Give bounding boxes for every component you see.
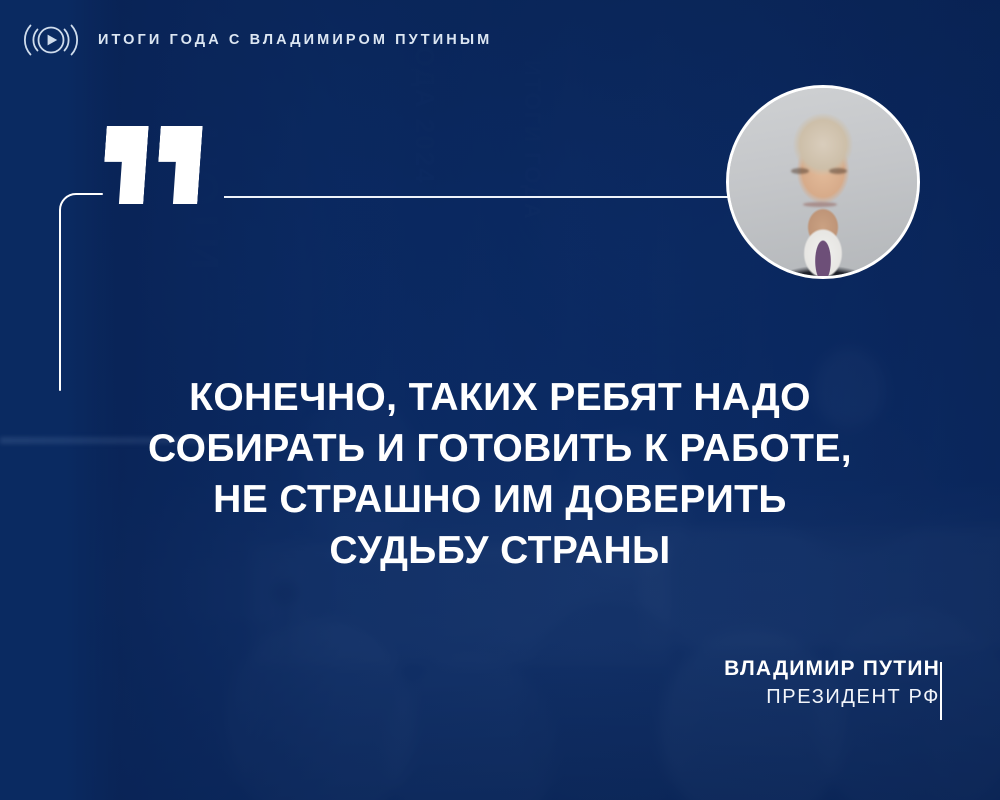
quote-card: ИТОГИ ГОДА 2024 ИТОГИ ГОДА ИТОГИ ГОДА С … [0, 0, 1000, 800]
attribution: ВЛАДИМИР ПУТИН ПРЕЗИДЕНТ РФ [724, 655, 940, 711]
quote-glyph-left [101, 126, 148, 204]
quote-glyph-right [155, 126, 202, 204]
portrait-eye-right [829, 168, 847, 174]
header-title: ИТОГИ ГОДА С ВЛАДИМИРОМ ПУТИНЫМ [98, 32, 492, 48]
portrait-eye-left [791, 168, 809, 174]
quote-line-4: СУДЬБУ СТРАНЫ [0, 525, 1000, 576]
content-layer: ИТОГИ ГОДА С ВЛАДИМИРОМ ПУТИНЫМ КОНЕЧНО, [0, 0, 1000, 800]
portrait-photo [729, 88, 917, 276]
quote-line-1: КОНЕЧНО, ТАКИХ РЕБЯТ НАДО [0, 372, 1000, 423]
portrait-mouth [803, 202, 837, 207]
avatar [726, 85, 920, 279]
attribution-name: ВЛАДИМИР ПУТИН [724, 655, 940, 683]
quote-divider-rule [224, 196, 732, 198]
quote-open-icon [104, 126, 200, 204]
header: ИТОГИ ГОДА С ВЛАДИМИРОМ ПУТИНЫМ [18, 20, 492, 60]
quote-line-2: СОБИРАТЬ И ГОТОВИТЬ К РАБОТЕ, [0, 423, 1000, 474]
attribution-role: ПРЕЗИДЕНТ РФ [724, 683, 940, 711]
quote-text: КОНЕЧНО, ТАКИХ РЕБЯТ НАДО СОБИРАТЬ И ГОТ… [0, 372, 1000, 576]
quote-line-3: НЕ СТРАШНО ИМ ДОВЕРИТЬ [0, 474, 1000, 525]
broadcast-play-icon [18, 20, 84, 60]
attribution-accent-bar [940, 662, 942, 720]
